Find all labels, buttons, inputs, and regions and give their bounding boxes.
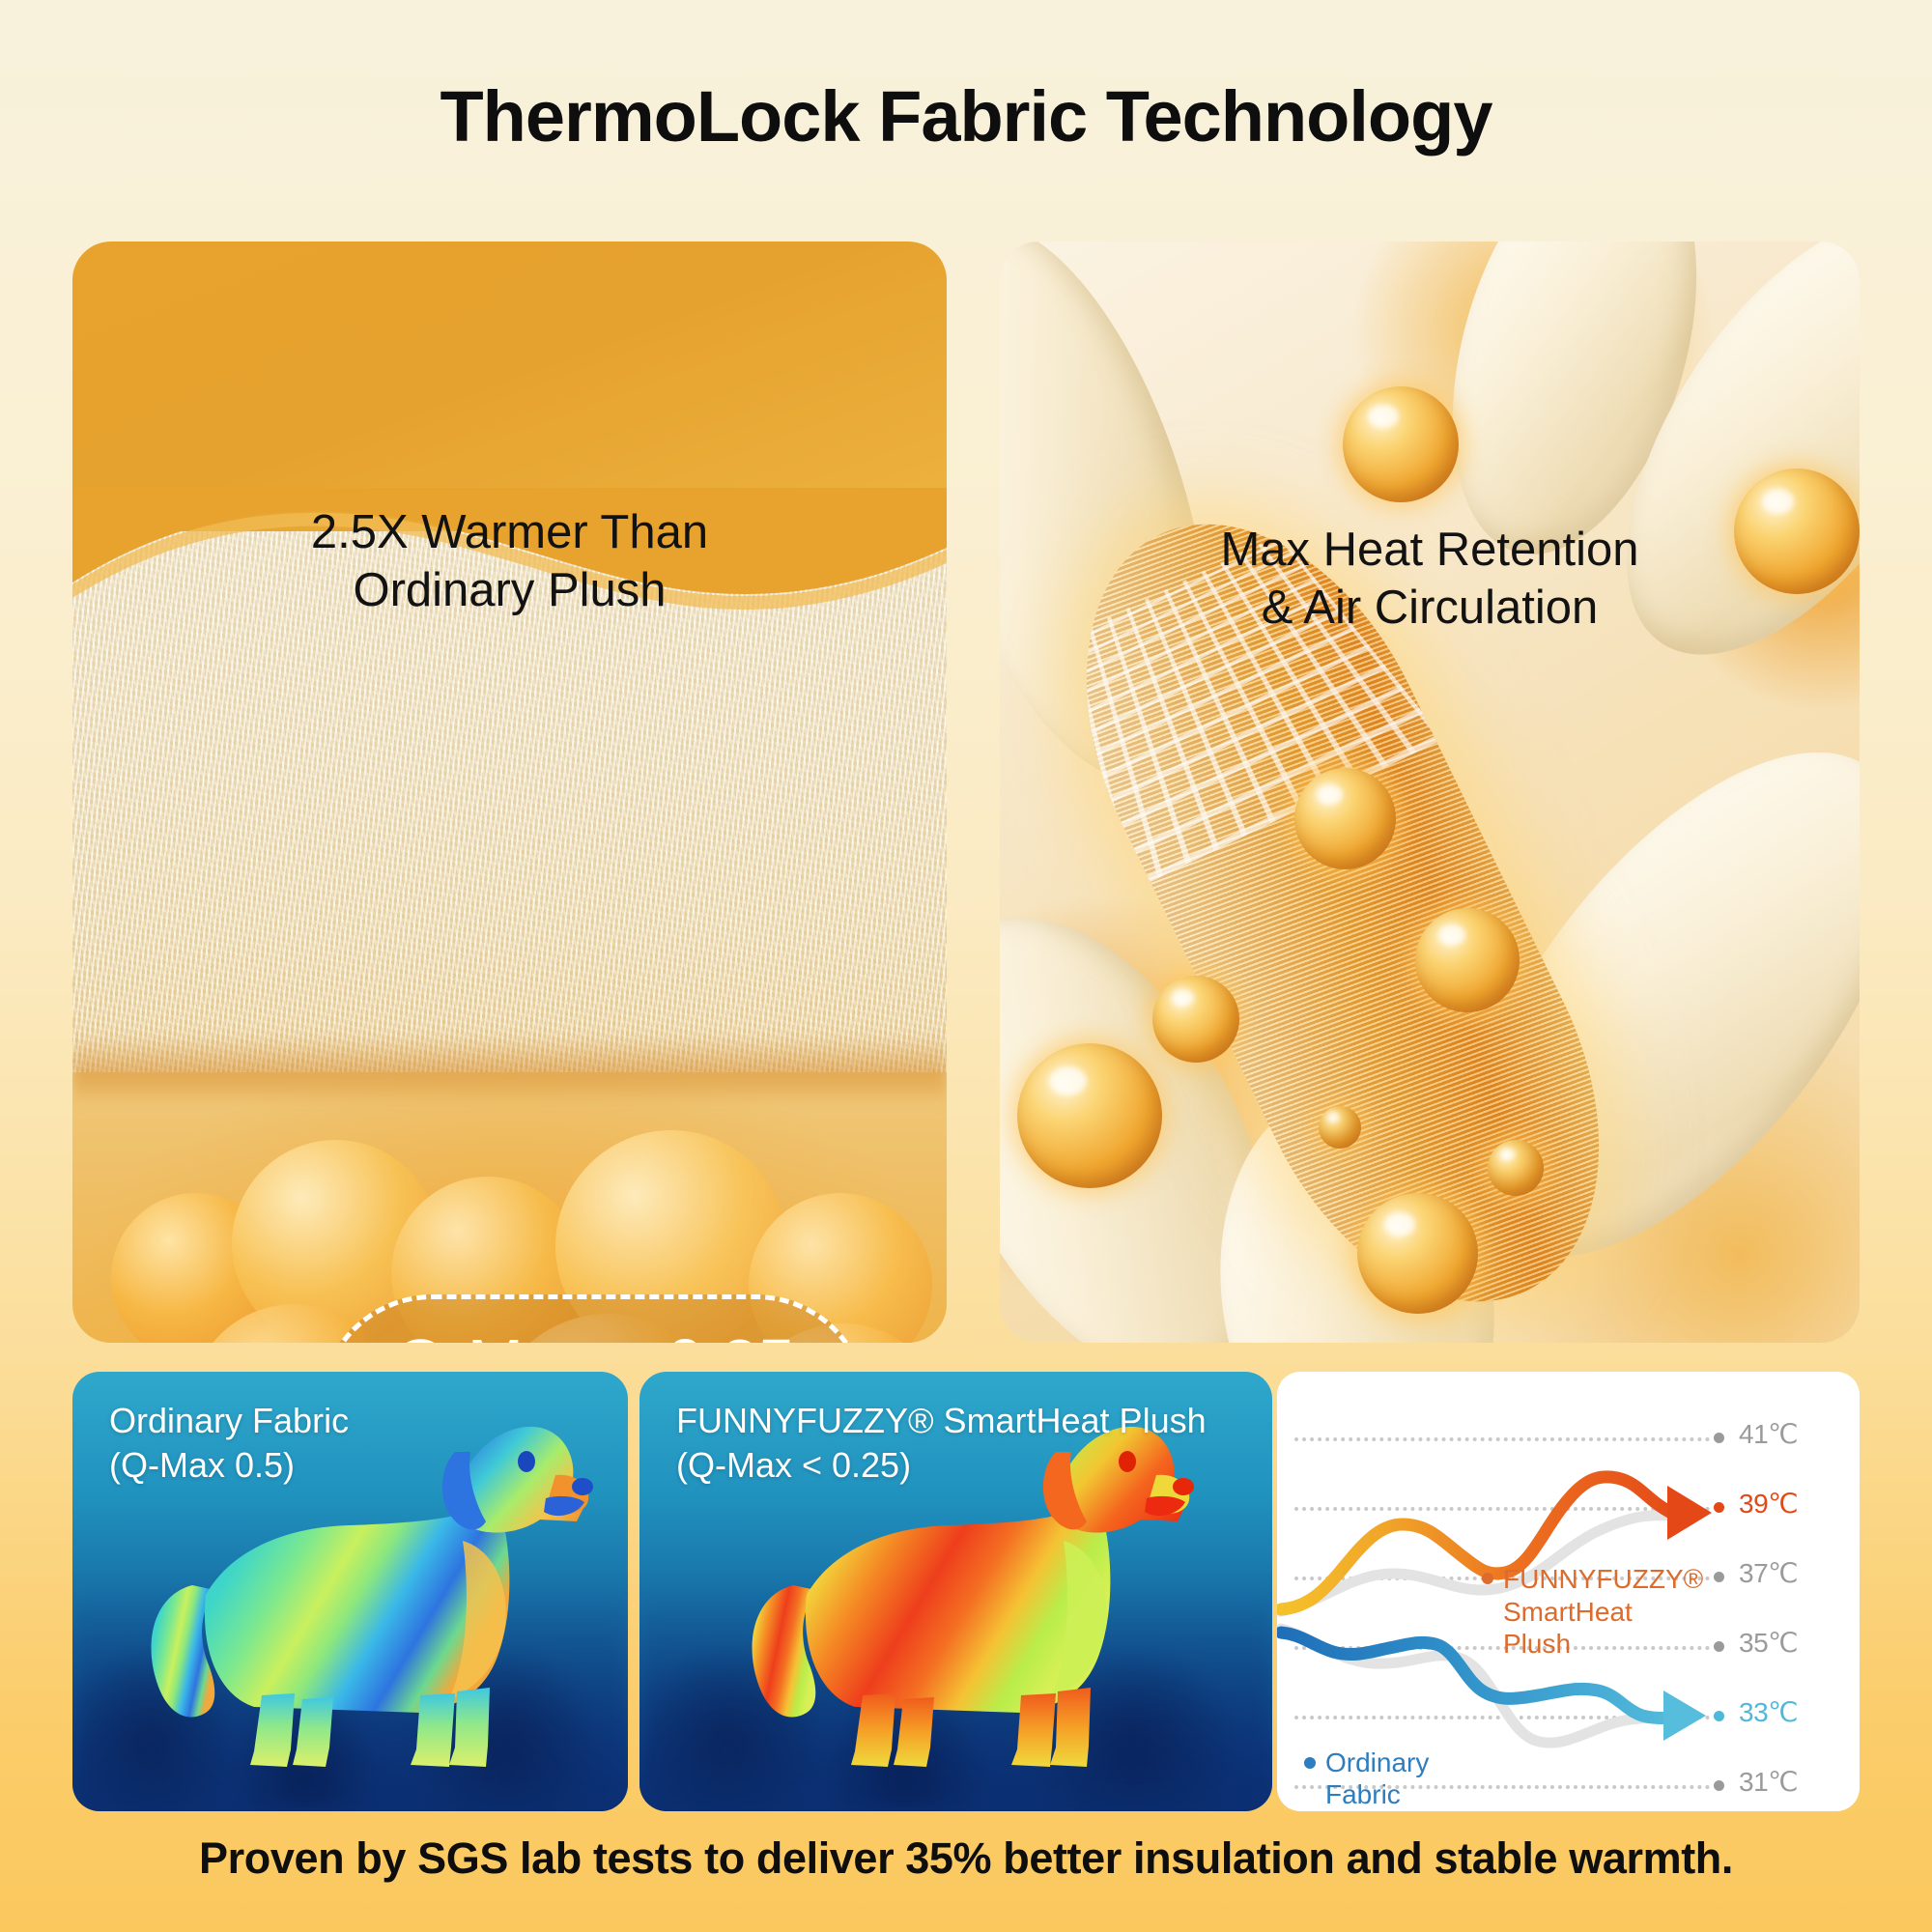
legend-dot-ordinary bbox=[1304, 1757, 1316, 1769]
heat-orb bbox=[1017, 1043, 1162, 1188]
page-title: ThermoLock Fabric Technology bbox=[0, 75, 1932, 157]
qmax-value: Q-Max < 0.25 bbox=[394, 1329, 794, 1344]
ordinary-fabric-label: Ordinary Fabric (Q-Max 0.5) bbox=[109, 1399, 349, 1488]
warmth-heading-line1: 2.5X Warmer Than bbox=[72, 504, 947, 562]
tick-dot-41 bbox=[1714, 1433, 1724, 1443]
ordinary-fabric-label-line1: Ordinary Fabric bbox=[109, 1399, 349, 1443]
panel-fiber-structure: Max Heat Retention & Air Circulation bbox=[1000, 241, 1860, 1343]
fiber-heading: Max Heat Retention & Air Circulation bbox=[1000, 522, 1860, 638]
tick-label-31: 31℃ bbox=[1739, 1766, 1798, 1798]
panel-thermal-smartheat: FUNNYFUZZY® SmartHeat Plush (Q-Max < 0.2… bbox=[639, 1372, 1272, 1811]
warmth-heading-line2: Ordinary Plush bbox=[72, 562, 947, 620]
fiber-heading-line1: Max Heat Retention bbox=[1000, 522, 1860, 580]
tick-dot-31 bbox=[1714, 1780, 1724, 1791]
heat-orb bbox=[1152, 976, 1239, 1063]
tick-label-41: 41℃ bbox=[1739, 1418, 1798, 1450]
legend-dot-smartheat bbox=[1482, 1573, 1493, 1584]
fiber-heading-line2: & Air Circulation bbox=[1000, 580, 1860, 638]
page-header: ThermoLock Fabric Technology bbox=[0, 75, 1932, 157]
heat-orb bbox=[1357, 1193, 1478, 1314]
smartheat-plush-label-line2: (Q-Max < 0.25) bbox=[676, 1443, 1207, 1488]
plush-edge-shadow bbox=[72, 1034, 947, 1101]
tick-label-37: 37℃ bbox=[1739, 1557, 1798, 1589]
warmth-heading: 2.5X Warmer Than Ordinary Plush bbox=[72, 504, 947, 620]
footer-caption: Proven by SGS lab tests to deliver 35% b… bbox=[0, 1833, 1932, 1884]
tick-dot-35 bbox=[1714, 1641, 1724, 1652]
tick-dot-33 bbox=[1714, 1711, 1724, 1721]
legend-label-smartheat-line2: SmartHeat Plush bbox=[1503, 1596, 1633, 1660]
heat-orb bbox=[1488, 1140, 1544, 1196]
legend-label-ordinary: Ordinary Fabric bbox=[1325, 1747, 1429, 1810]
tick-label-35: 35℃ bbox=[1739, 1627, 1798, 1659]
qmax-badge: Q-Max < 0.25 Higher warmth retention = l… bbox=[319, 1294, 869, 1343]
legend-label-smartheat-line1: FUNNYFUZZY® bbox=[1503, 1563, 1703, 1595]
panel-temperature-chart: 41℃ 39℃ 37℃ 35℃ 33℃ 31℃ FUNNYFUZZY® Smar… bbox=[1277, 1372, 1860, 1811]
heat-orb bbox=[1294, 768, 1396, 869]
tick-label-39: 39℃ bbox=[1739, 1488, 1798, 1520]
ordinary-fabric-label-line2: (Q-Max 0.5) bbox=[109, 1443, 349, 1488]
tick-label-33: 33℃ bbox=[1739, 1696, 1798, 1728]
panel-thermal-ordinary: Ordinary Fabric (Q-Max 0.5) bbox=[72, 1372, 628, 1811]
heat-orb bbox=[1415, 908, 1520, 1012]
panel-warmth-comparison: 2.5X Warmer Than Ordinary Plush Q-Max < … bbox=[72, 241, 947, 1343]
heat-orb bbox=[1343, 386, 1459, 502]
smartheat-plush-label: FUNNYFUZZY® SmartHeat Plush (Q-Max < 0.2… bbox=[676, 1399, 1207, 1488]
tick-dot-39 bbox=[1714, 1502, 1724, 1513]
heat-orb bbox=[1319, 1106, 1361, 1149]
smartheat-plush-label-line1: FUNNYFUZZY® SmartHeat Plush bbox=[676, 1399, 1207, 1443]
tick-dot-37 bbox=[1714, 1572, 1724, 1582]
